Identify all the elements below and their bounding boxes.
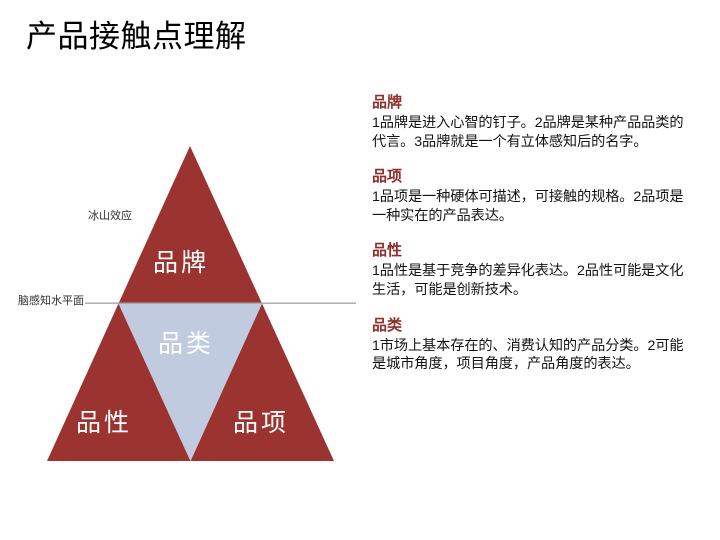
pyramid-label-pinxiang: 品项 bbox=[233, 410, 289, 438]
definition-body-pinxiang: 1品项是一种硬体可描述，可接触的规格。2品项是一种实在的产品表达。 bbox=[372, 188, 692, 225]
definition-heading-brand: 品牌 bbox=[372, 93, 692, 113]
definition-block-pinlei: 品类 1市场上基本存在的、消费认知的产品分类。2可能是城市角度，项目角度，产品角… bbox=[372, 316, 692, 374]
pyramid-label-pinxing: 品性 bbox=[76, 410, 132, 438]
pyramid-segment-brand[interactable] bbox=[119, 146, 263, 304]
annotation-perception-waterline: 脑感知水平面 bbox=[18, 294, 84, 308]
definition-block-brand: 品牌 1品牌是进入心智的钉子。2品牌是某种产品品类的代言。3品牌就是一个有立体感… bbox=[372, 93, 692, 151]
definition-body-pinlei: 1市场上基本存在的、消费认知的产品分类。2可能是城市角度，项目角度，产品角度的表… bbox=[372, 337, 692, 374]
definition-block-pinxiang: 品项 1品项是一种硬体可描述，可接触的规格。2品项是一种实在的产品表达。 bbox=[372, 167, 692, 225]
annotation-iceberg-effect: 冰山效应 bbox=[88, 209, 132, 223]
definition-heading-pinlei: 品类 bbox=[372, 316, 692, 336]
pyramid-diagram: 品牌 品类 品性 品项 冰山效应 脑感知水平面 bbox=[0, 0, 370, 540]
pyramid-label-pinlei: 品类 bbox=[158, 331, 214, 359]
pyramid-label-brand: 品牌 bbox=[153, 250, 209, 278]
definition-heading-pinxiang: 品项 bbox=[372, 167, 692, 187]
definition-heading-pinxing: 品性 bbox=[372, 241, 692, 261]
definition-body-brand: 1品牌是进入心智的钉子。2品牌是某种产品品类的代言。3品牌就是一个有立体感知后的… bbox=[372, 114, 692, 151]
definition-body-pinxing: 1品性是基于竞争的差异化表达。2品性可能是文化生活，可能是创新技术。 bbox=[372, 262, 692, 299]
definition-list: 品牌 1品牌是进入心智的钉子。2品牌是某种产品品类的代言。3品牌就是一个有立体感… bbox=[372, 93, 692, 374]
definition-block-pinxing: 品性 1品性是基于竞争的差异化表达。2品性可能是文化生活，可能是创新技术。 bbox=[372, 241, 692, 299]
